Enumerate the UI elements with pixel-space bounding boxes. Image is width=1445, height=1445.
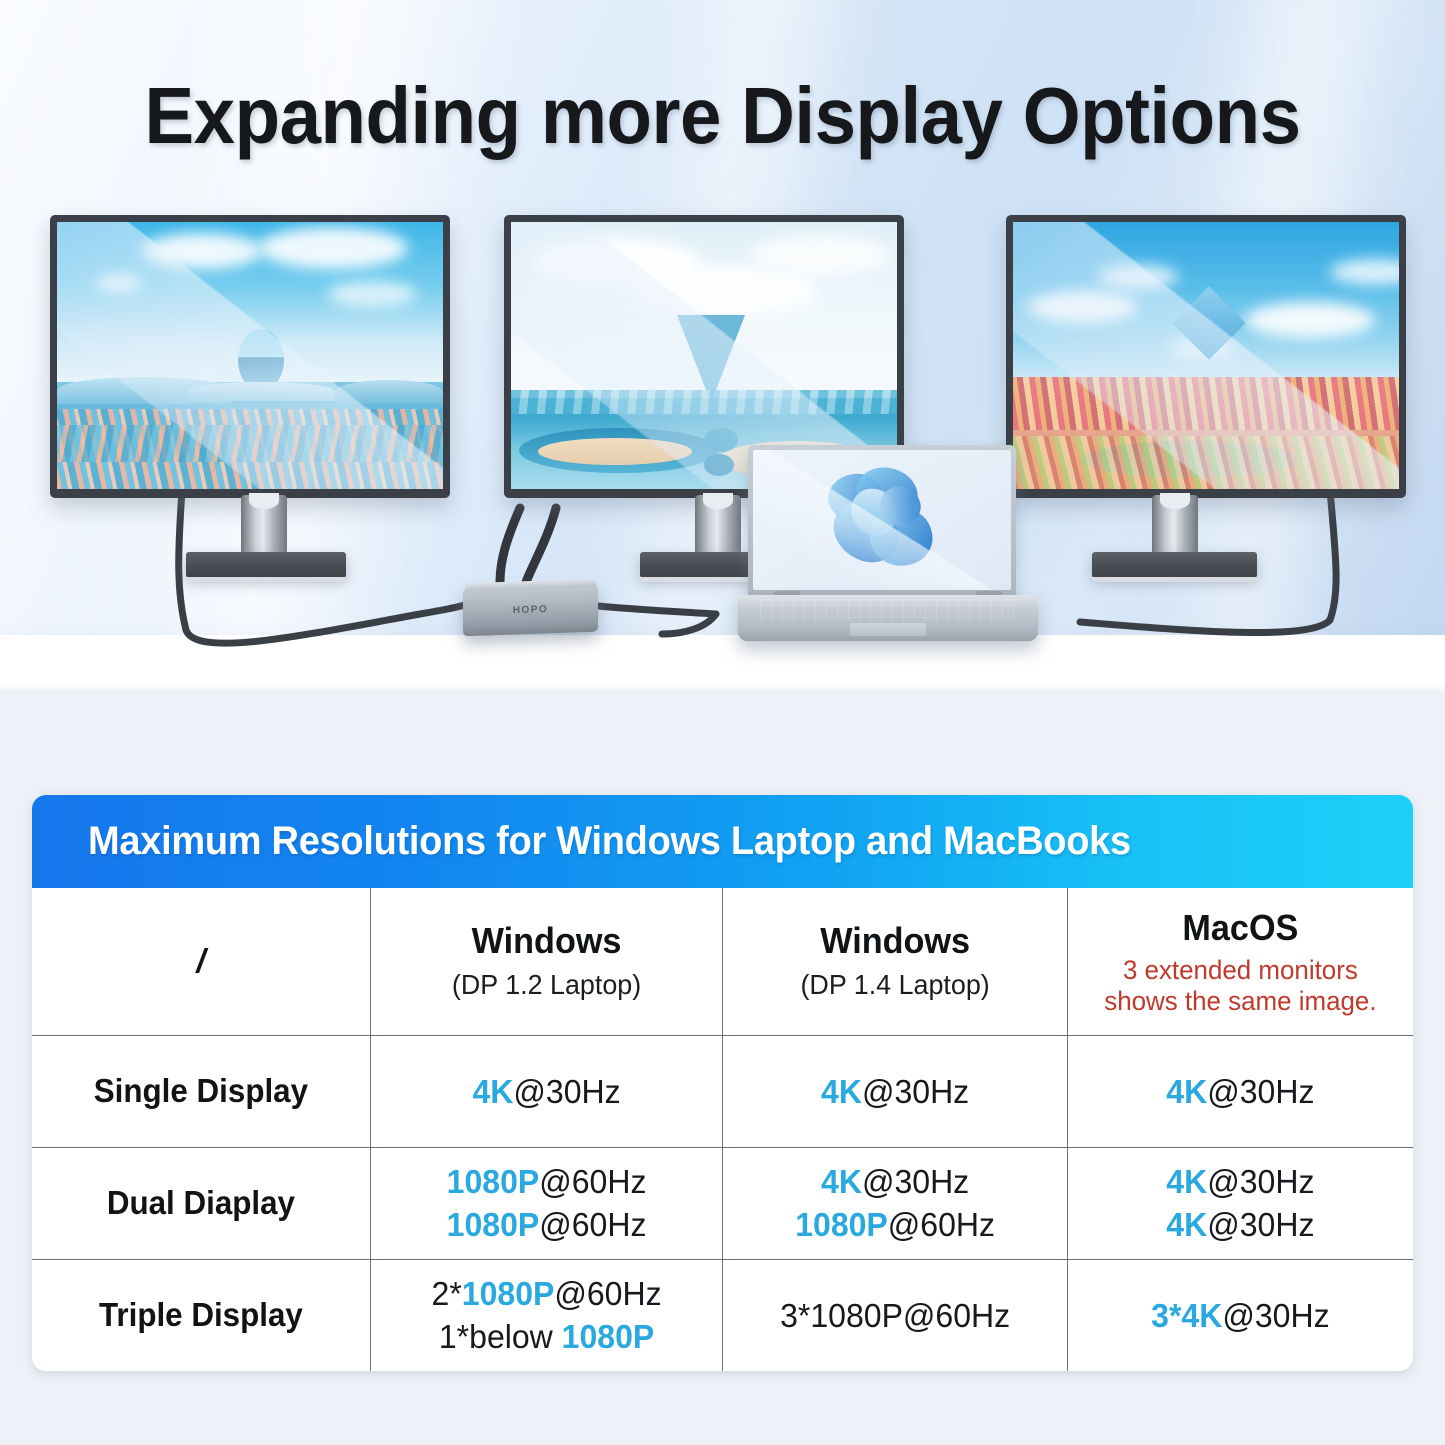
resolution-value: 4K@30Hz xyxy=(728,1160,1062,1203)
value-refresh-rate: @30Hz xyxy=(1207,1073,1314,1110)
resolution-cell: 1080P@60Hz1080P@60Hz xyxy=(370,1147,722,1259)
resolution-matrix: / Windows (DP 1.2 Laptop) Windows (DP 1.… xyxy=(32,888,1413,1371)
value-resolution: 4K xyxy=(821,1073,862,1110)
monitor-left-stand-base xyxy=(186,552,346,578)
laptop-lid xyxy=(748,445,1016,597)
resolution-value: 1080P@60Hz xyxy=(376,1160,717,1203)
value-refresh-rate: @60Hz xyxy=(554,1275,661,1312)
resolution-value: 3*4K@30Hz xyxy=(1073,1294,1407,1337)
monitor-bezel xyxy=(1006,215,1406,498)
screen-flowers xyxy=(1013,377,1399,430)
monitor-left-stand-neck xyxy=(241,495,287,560)
value-refresh-rate: @60Hz xyxy=(539,1163,646,1200)
dock-brand-logo: HOPO xyxy=(513,604,548,616)
resolution-cell: 4K@30Hz xyxy=(722,1035,1067,1147)
table-row: Dual Diaplay1080P@60Hz1080P@60Hz4K@30Hz1… xyxy=(32,1147,1413,1259)
row-label: Dual Diaplay xyxy=(40,1184,361,1222)
table-row: Triple Display2*1080P@60Hz1*below 1080P3… xyxy=(32,1259,1413,1371)
resolution-value: 4K@30Hz xyxy=(728,1070,1062,1113)
resolution-cell: 3*4K@30Hz xyxy=(1068,1259,1413,1371)
resolution-value: 1080P@60Hz xyxy=(376,1203,717,1246)
row-label: Triple Display xyxy=(40,1296,361,1334)
value-resolution: 3*4K xyxy=(1151,1297,1222,1334)
value-refresh-rate: @30Hz xyxy=(513,1073,620,1110)
slash-placeholder: / xyxy=(32,942,370,980)
resolution-value: 4K@30Hz xyxy=(1073,1203,1407,1246)
value-resolution: 4K xyxy=(1167,1163,1208,1200)
resolution-value: 1080P@60Hz xyxy=(728,1203,1062,1246)
column-header-subtitle: (DP 1.2 Laptop) xyxy=(378,967,715,1003)
value-resolution: 1080P xyxy=(795,1206,888,1243)
value-resolution: 1080P xyxy=(447,1206,540,1243)
resolution-value: 3*1080P@60Hz xyxy=(728,1294,1062,1337)
table-column-headers: / Windows (DP 1.2 Laptop) Windows (DP 1.… xyxy=(32,888,1413,1035)
laptop xyxy=(738,445,1038,650)
value-resolution: 1080P xyxy=(562,1318,655,1355)
resolution-cell: 4K@30Hz xyxy=(370,1035,722,1147)
monitor-center-stand-neck xyxy=(695,495,741,560)
value-refresh-rate: @30Hz xyxy=(1207,1163,1314,1200)
value-refresh-rate: @30Hz xyxy=(1207,1206,1314,1243)
monitor-bezel xyxy=(50,215,450,498)
monitor-right-stand-base xyxy=(1092,552,1257,578)
value-refresh-rate: @60Hz xyxy=(888,1206,995,1243)
value-resolution: 1080P xyxy=(462,1275,555,1312)
table-head-row-group: / Windows (DP 1.2 Laptop) Windows (DP 1.… xyxy=(32,888,1413,1035)
row-label: Single Display xyxy=(40,1072,361,1110)
infographic-page: Expanding more Display Options xyxy=(0,0,1445,1445)
laptop-base xyxy=(738,595,1038,641)
laptop-keyboard xyxy=(760,599,1016,621)
row-label-cell: Single Display xyxy=(32,1035,370,1147)
page-title: Expanding more Display Options xyxy=(51,72,1395,160)
row-label-cell: Triple Display xyxy=(32,1259,370,1371)
column-header-subtitle: (DP 1.4 Laptop) xyxy=(730,967,1060,1003)
value-refresh-rate: @30Hz xyxy=(862,1163,969,1200)
value-prefix: 2* xyxy=(431,1275,461,1312)
column-header-blank: / xyxy=(32,888,370,1035)
monitor-right-stand-neck xyxy=(1152,495,1198,560)
table-row: Single Display4K@30Hz4K@30Hz4K@30Hz xyxy=(32,1035,1413,1147)
table-title: Maximum Resolutions for Windows Laptop a… xyxy=(88,819,1131,864)
column-header-title: Windows xyxy=(732,919,1059,963)
value-prefix: 1*below xyxy=(439,1318,562,1355)
table-header-bar: Maximum Resolutions for Windows Laptop a… xyxy=(32,795,1413,888)
value-prefix: 3*1080P@60Hz xyxy=(780,1297,1010,1334)
resolution-cell: 4K@30Hz1080P@60Hz xyxy=(722,1147,1067,1259)
windows-11-wallpaper xyxy=(826,468,938,572)
resolution-cell: 4K@30Hz4K@30Hz xyxy=(1068,1147,1413,1259)
value-refresh-rate: @30Hz xyxy=(862,1073,969,1110)
resolution-value: 1*below 1080P xyxy=(376,1315,717,1358)
resolution-cell: 4K@30Hz xyxy=(1068,1035,1413,1147)
column-header-title: Windows xyxy=(380,919,714,963)
column-header-macos: MacOS 3 extended monitors shows the same… xyxy=(1068,888,1413,1035)
value-refresh-rate: @30Hz xyxy=(1223,1297,1330,1334)
product-scene: HOPO xyxy=(0,190,1445,700)
laptop-trackpad xyxy=(850,623,926,636)
column-header-windows-dp12: Windows (DP 1.2 Laptop) xyxy=(370,888,722,1035)
usb-c-docking-station: HOPO xyxy=(463,584,598,637)
screen-grass xyxy=(1013,436,1399,489)
monitor-screen xyxy=(57,222,443,489)
value-refresh-rate: @60Hz xyxy=(539,1206,646,1243)
value-resolution: 1080P xyxy=(447,1163,540,1200)
resolution-value: 2*1080P@60Hz xyxy=(376,1272,717,1315)
value-resolution: 4K xyxy=(821,1163,862,1200)
value-resolution: 4K xyxy=(1167,1073,1208,1110)
resolution-table: Maximum Resolutions for Windows Laptop a… xyxy=(32,795,1413,1371)
value-resolution: 4K xyxy=(472,1073,513,1110)
resolution-cell: 2*1080P@60Hz1*below 1080P xyxy=(370,1259,722,1371)
resolution-value: 4K@30Hz xyxy=(376,1070,717,1113)
monitor-screen xyxy=(1013,222,1399,489)
resolution-cell: 3*1080P@60Hz xyxy=(722,1259,1067,1371)
value-resolution: 4K xyxy=(1167,1206,1208,1243)
laptop-screen xyxy=(753,450,1011,590)
row-label-cell: Dual Diaplay xyxy=(32,1147,370,1259)
resolution-value: 4K@30Hz xyxy=(1073,1160,1407,1203)
monitor-left xyxy=(50,215,450,498)
table-body: Single Display4K@30Hz4K@30Hz4K@30HzDual … xyxy=(32,1035,1413,1371)
column-header-title: MacOS xyxy=(1077,906,1405,950)
macos-warning-note: 3 extended monitors shows the same image… xyxy=(1075,955,1406,1017)
resolution-value: 4K@30Hz xyxy=(1073,1070,1407,1113)
monitor-right xyxy=(1006,215,1406,498)
column-header-windows-dp14: Windows (DP 1.4 Laptop) xyxy=(722,888,1067,1035)
